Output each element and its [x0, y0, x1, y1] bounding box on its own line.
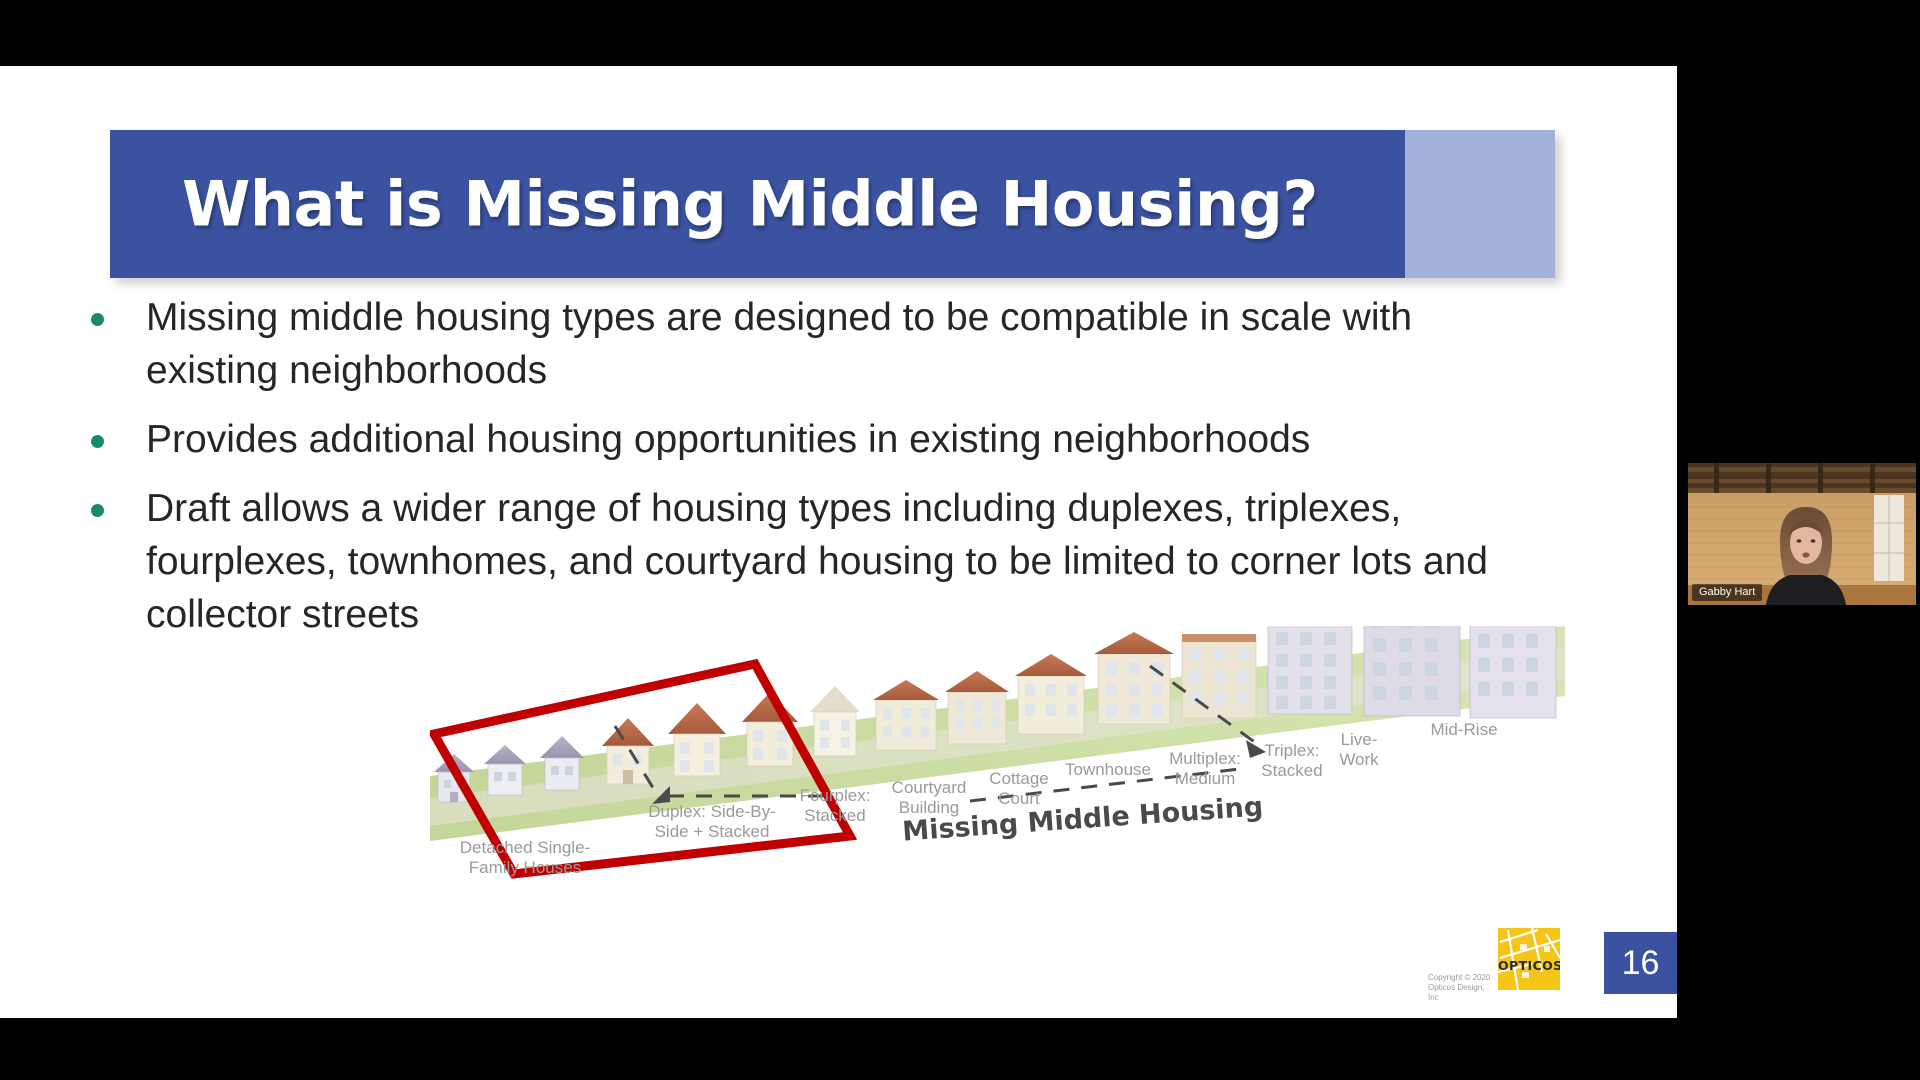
missing-middle-housing-diagram: Detached Single-Family Houses Duplex: Si… — [430, 626, 1565, 996]
opticos-logo: OPTICOS — [1498, 928, 1560, 990]
copyright-line-1: Copyright © 2020 — [1428, 973, 1496, 983]
bullet-dot-icon — [91, 435, 104, 448]
slide-page-number: 16 — [1604, 932, 1677, 994]
diagram-label: Live-Work — [1328, 730, 1390, 770]
bullet-text: Provides additional housing opportunitie… — [146, 413, 1310, 466]
zoom-screenshare-window: What is Missing Middle Housing? Missing … — [0, 0, 1920, 1080]
participant-video-tile[interactable]: Gabby Hart — [1688, 463, 1916, 605]
title-band-light-panel — [1405, 130, 1555, 278]
copyright-notice: Copyright © 2020 Opticos Design, Inc — [1428, 973, 1496, 1003]
page-title: What is Missing Middle Housing? — [182, 168, 1318, 241]
list-item: Missing middle housing types are designe… — [78, 291, 1598, 397]
participant-name-label: Gabby Hart — [1692, 584, 1762, 601]
slide-title-band: What is Missing Middle Housing? — [110, 130, 1555, 278]
bullet-dot-icon — [91, 313, 104, 326]
bullet-dot-icon — [91, 504, 104, 517]
slide-bullet-list: Missing middle housing types are designe… — [78, 291, 1598, 657]
diagram-label: Mid-Rise — [1420, 720, 1508, 740]
diagram-label: Triplex: Stacked — [1252, 741, 1332, 781]
opticos-wordmark: OPTICOS — [1498, 958, 1560, 973]
diagram-label: Townhouse — [1060, 760, 1156, 780]
diagram-label: Multiplex: Medium — [1160, 749, 1250, 789]
copyright-line-2: Opticos Design, Inc — [1428, 983, 1496, 1003]
diagram-label: Fourplex: Stacked — [790, 786, 880, 826]
bullet-text: Draft allows a wider range of housing ty… — [146, 482, 1536, 641]
diagram-label: Cottage Court — [982, 769, 1056, 809]
list-item: Provides additional housing opportunitie… — [78, 413, 1598, 466]
diagram-label: Detached Single-Family Houses — [440, 838, 610, 878]
list-item: Draft allows a wider range of housing ty… — [78, 482, 1598, 641]
bullet-text: Missing middle housing types are designe… — [146, 291, 1536, 397]
diagram-label: Duplex: Side-By-Side + Stacked — [642, 802, 782, 842]
presentation-slide: What is Missing Middle Housing? Missing … — [0, 66, 1677, 1018]
